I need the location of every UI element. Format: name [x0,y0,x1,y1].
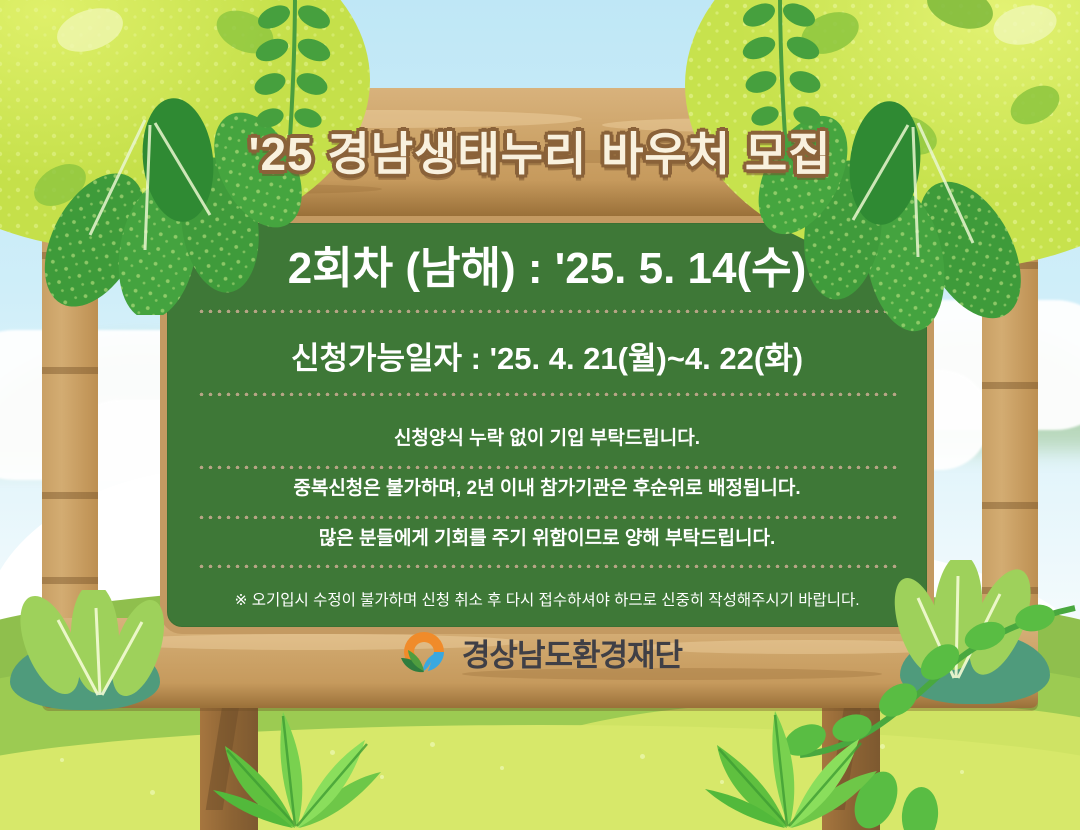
dotted-separator [197,386,897,396]
body-line-2: 중복신청은 불가하며, 2년 이내 참가기관은 후순위로 배정됩니다. [193,476,901,502]
dotted-separator [197,558,897,568]
body-line-3: 많은 분들에게 기회를 주기 위함이므로 양해 부탁드립니다. [193,526,901,552]
sun-water-leaf-logo-icon [398,628,450,676]
dotted-separator [197,459,897,469]
banana-plant-left [185,660,405,830]
page-title: '25 경남생태누리 바우처 모집 [0,118,1080,184]
poster-canvas: 2회차 (남해) : '25. 5. 14(수) 신청가능일자 : '25. 4… [0,0,1080,830]
dotted-separator [197,509,897,519]
banana-plant-right [675,655,905,830]
organization-name: 경상남도환경재단 [462,630,682,675]
body-line-1: 신청양식 누락 없이 기입 부탁드립니다. [193,426,901,452]
apply-date-headline: 신청가능일자 : '25. 4. 21(월)~4. 22(화) [193,339,901,379]
